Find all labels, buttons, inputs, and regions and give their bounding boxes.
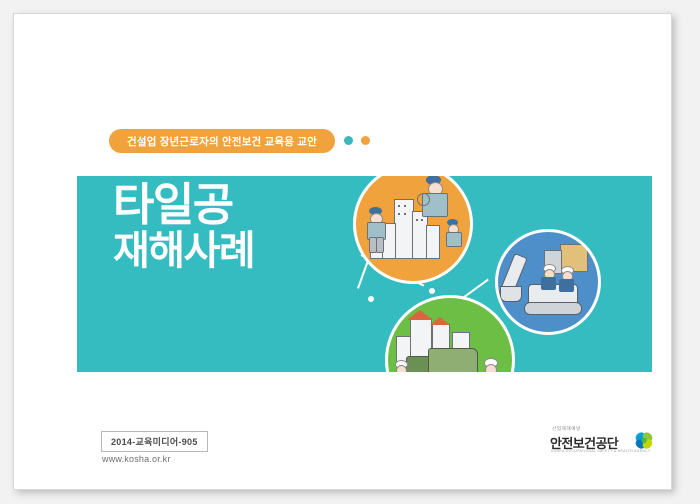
document-number: 2014-교육미디어-905 xyxy=(101,431,208,452)
logo-supertext: 산업재해예방 xyxy=(552,426,581,432)
illustration-green-circle xyxy=(385,295,515,372)
subtitle-badge: 건설업 장년근로자의 안전보건 교육용 교안 xyxy=(109,129,335,153)
illustration-orange-circle xyxy=(353,176,473,284)
page-title: 타일공 재해사례 xyxy=(113,182,254,271)
website-url: www.kosha.or.kr xyxy=(102,454,171,464)
orange-dot-icon xyxy=(361,136,370,145)
connector-node-icon xyxy=(368,296,374,302)
illustration-blue-circle xyxy=(495,229,601,335)
title-line-2: 재해사례 xyxy=(113,231,254,271)
kosha-flower-mark-icon xyxy=(632,429,656,453)
title-line-1: 타일공 xyxy=(113,182,254,227)
connector-node-icon xyxy=(429,288,435,294)
kosha-logo: 산업재해예방 안전보건공단 KOREA OCCUPATIONAL SAFETY … xyxy=(547,426,657,460)
teal-dot-icon xyxy=(344,136,353,145)
cover-page: 건설업 장년근로자의 안전보건 교육용 교안 xyxy=(13,13,672,490)
teal-banner: 타일공 재해사례 xyxy=(77,176,652,372)
screenshot-canvas: 건설업 장년근로자의 안전보건 교육용 교안 xyxy=(0,0,700,504)
